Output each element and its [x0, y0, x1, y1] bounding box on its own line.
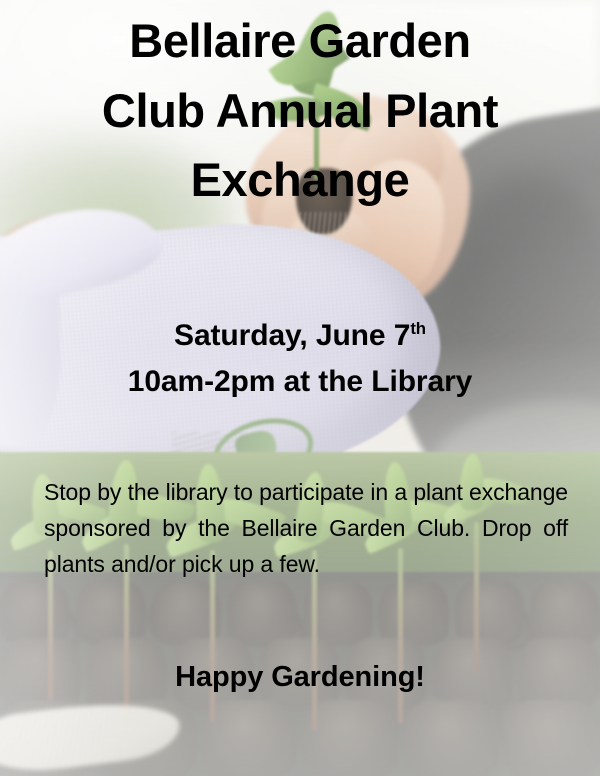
headline-line-3: Exchange	[0, 145, 600, 215]
body-paragraph: Stop by the library to participate in a …	[44, 475, 568, 583]
event-details: Saturday, June 7th 10am-2pm at the Libra…	[0, 313, 600, 405]
event-date: Saturday, June 7	[174, 319, 410, 352]
headline-line-2: Club Annual Plant	[0, 76, 600, 146]
flyer-text-content: Bellaire Garden Club Annual Plant Exchan…	[0, 0, 600, 776]
page-title: Bellaire Garden Club Annual Plant Exchan…	[0, 6, 600, 215]
headline-line-1: Bellaire Garden	[0, 6, 600, 76]
closing-message: Happy Gardening!	[0, 661, 600, 694]
date-ordinal-suffix: th	[410, 319, 426, 338]
body-description: Stop by the library to participate in a …	[44, 475, 568, 583]
event-date-line: Saturday, June 7th	[0, 313, 600, 359]
flyer-poster: Bellaire Garden Club Annual Plant Exchan…	[0, 0, 600, 776]
event-time-location: 10am-2pm at the Library	[0, 359, 600, 405]
